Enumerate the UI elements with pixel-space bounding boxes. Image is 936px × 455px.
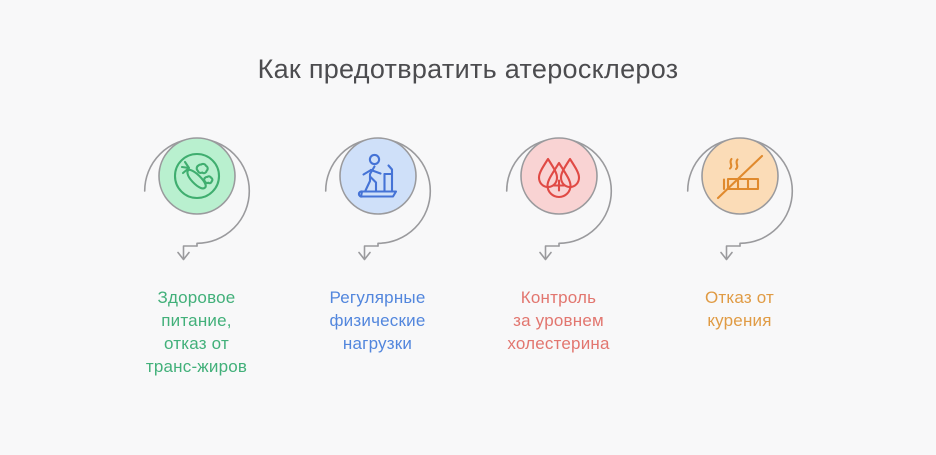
prevention-steps-list: Здоровое питание, отказ от транс-жиров: [106, 118, 830, 378]
badge-no-smoking: [680, 118, 800, 266]
step-item-healthy-food: Здоровое питание, отказ от транс-жиров: [106, 118, 287, 378]
step-caption: Регулярные физические нагрузки: [329, 286, 425, 355]
step-caption: Отказ от курения: [705, 286, 774, 332]
badge-physical-activity: [318, 118, 438, 266]
step-item-cholesterol-control: Контроль за уровнем холестерина: [468, 118, 649, 355]
step-item-physical-activity: Регулярные физические нагрузки: [287, 118, 468, 355]
step-caption: Контроль за уровнем холестерина: [507, 286, 609, 355]
badge-healthy-food: [137, 118, 257, 266]
step-item-no-smoking: Отказ от курения: [649, 118, 830, 332]
infographic-canvas: Как предотвратить атеросклероз: [0, 0, 936, 455]
step-caption: Здоровое питание, отказ от транс-жиров: [146, 286, 247, 378]
page-title: Как предотвратить атеросклероз: [0, 54, 936, 85]
badge-cholesterol-control: [499, 118, 619, 266]
